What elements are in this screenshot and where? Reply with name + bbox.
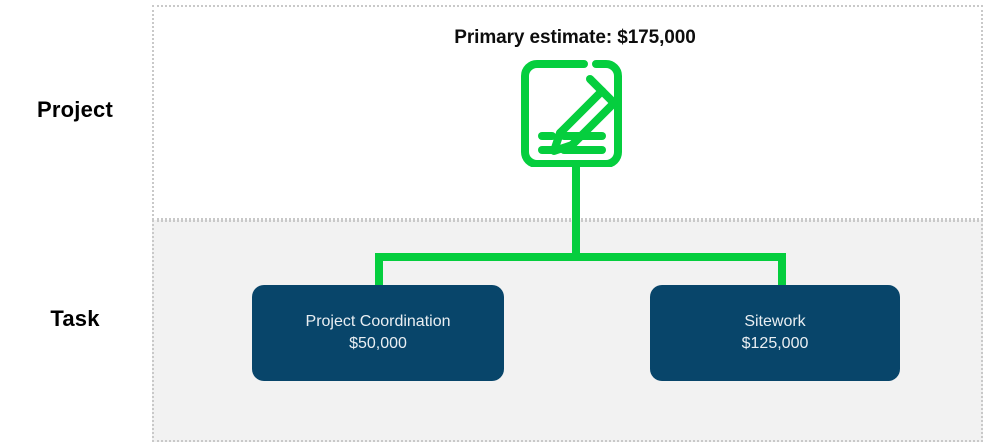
task-node-project-coordination[interactable]: Project Coordination $50,000 xyxy=(252,285,504,381)
task-amount: $125,000 xyxy=(742,333,809,355)
estimate-hierarchy-diagram: Project Task Primary estimate: $175,000 xyxy=(0,0,994,448)
task-node-sitework[interactable]: Sitework $125,000 xyxy=(650,285,900,381)
connector-trunk xyxy=(572,160,580,257)
task-amount: $50,000 xyxy=(349,333,407,355)
primary-estimate-title: Primary estimate: $175,000 xyxy=(355,27,795,49)
task-name: Sitework xyxy=(744,311,805,333)
connector-horizontal-bar xyxy=(375,253,786,261)
row-label-project: Project xyxy=(0,97,150,123)
document-pencil-icon[interactable] xyxy=(518,57,625,167)
task-name: Project Coordination xyxy=(306,311,451,333)
row-label-task: Task xyxy=(0,306,150,332)
